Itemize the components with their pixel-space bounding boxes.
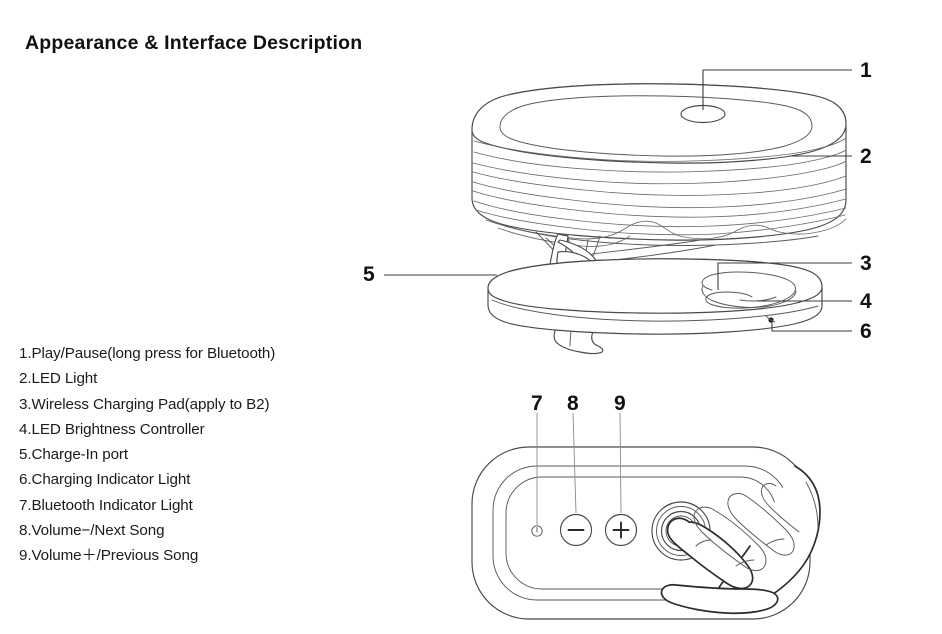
callout-number-5: 5 <box>363 264 375 285</box>
volume-up-button <box>606 515 637 546</box>
callout-number-2: 2 <box>860 146 872 167</box>
control-panel-figure <box>472 447 820 619</box>
tree-figure-leaders <box>384 70 852 331</box>
callout-number-1: 1 <box>860 60 872 81</box>
panel-inner-bezel <box>506 477 776 589</box>
legend-item-4: 4.LED Brightness Controller <box>19 417 379 442</box>
callout-number-8: 8 <box>567 393 579 414</box>
play-pause-button <box>652 502 710 560</box>
leader-9 <box>620 413 621 513</box>
legend-item-8: 8.Volume−/Next Song <box>19 518 379 543</box>
legend-item-3: 3.Wireless Charging Pad(apply to B2) <box>19 392 379 417</box>
play-pause-button-hole <box>681 106 725 123</box>
legend-item-5: 5.Charge-In port <box>19 442 379 467</box>
legend-item-2: 2.LED Light <box>19 366 379 391</box>
callout-number-4: 4 <box>860 291 872 312</box>
bluetooth-indicator-light <box>532 526 542 536</box>
legend-item-6: 6.Charging Indicator Light <box>19 467 379 492</box>
wireless-charging-pad <box>702 272 795 308</box>
callout-number-6: 6 <box>860 321 872 342</box>
charging-indicator-light <box>768 317 773 322</box>
volume-down-button <box>561 515 592 546</box>
page-title: Appearance & Interface Description <box>25 32 362 55</box>
panel-outer-bezel <box>472 447 810 619</box>
legend-item-7: 7.Bluetooth Indicator Light <box>19 493 379 518</box>
legend-item-1: 1.Play/Pause(long press for Bluetooth) <box>19 341 379 366</box>
leader-6 <box>772 322 852 331</box>
hand-pressing-button <box>661 466 820 613</box>
control-panel-leaders <box>537 413 621 525</box>
tree-lamp-figure <box>472 84 846 354</box>
panel-middle-bezel <box>493 466 789 600</box>
legend-item-9: 9.Volume＋/Previous Song <box>19 543 379 568</box>
leader-3 <box>718 263 852 290</box>
leader-8 <box>573 413 576 513</box>
callout-number-7: 7 <box>531 393 543 414</box>
callout-number-9: 9 <box>614 393 626 414</box>
callout-number-3: 3 <box>860 253 872 274</box>
leader-1 <box>703 70 852 110</box>
legend-list: 1.Play/Pause(long press for Bluetooth) 2… <box>19 341 379 569</box>
